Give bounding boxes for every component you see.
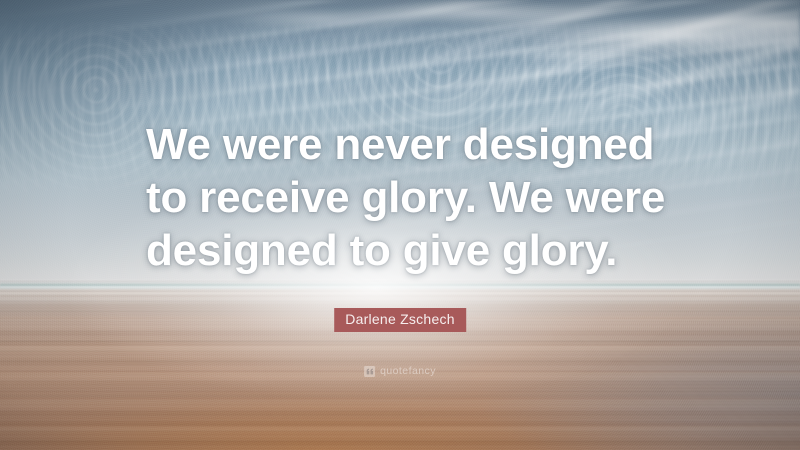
quote-poster: We were never designed to receive glory.…: [0, 0, 800, 450]
quote-line-3: designed to give glory.: [146, 224, 666, 277]
quote-line-2: to receive glory. We were: [146, 171, 666, 224]
watermark[interactable]: quotefancy: [364, 366, 436, 377]
author-badge: Darlene Zschech: [334, 308, 466, 332]
quote-line-1: We were never designed: [146, 118, 666, 171]
quote-text: We were never designed to receive glory.…: [146, 118, 666, 277]
poster-content: We were never designed to receive glory.…: [0, 0, 800, 450]
quote-mark-icon: [364, 366, 375, 377]
watermark-label: quotefancy: [380, 366, 436, 377]
